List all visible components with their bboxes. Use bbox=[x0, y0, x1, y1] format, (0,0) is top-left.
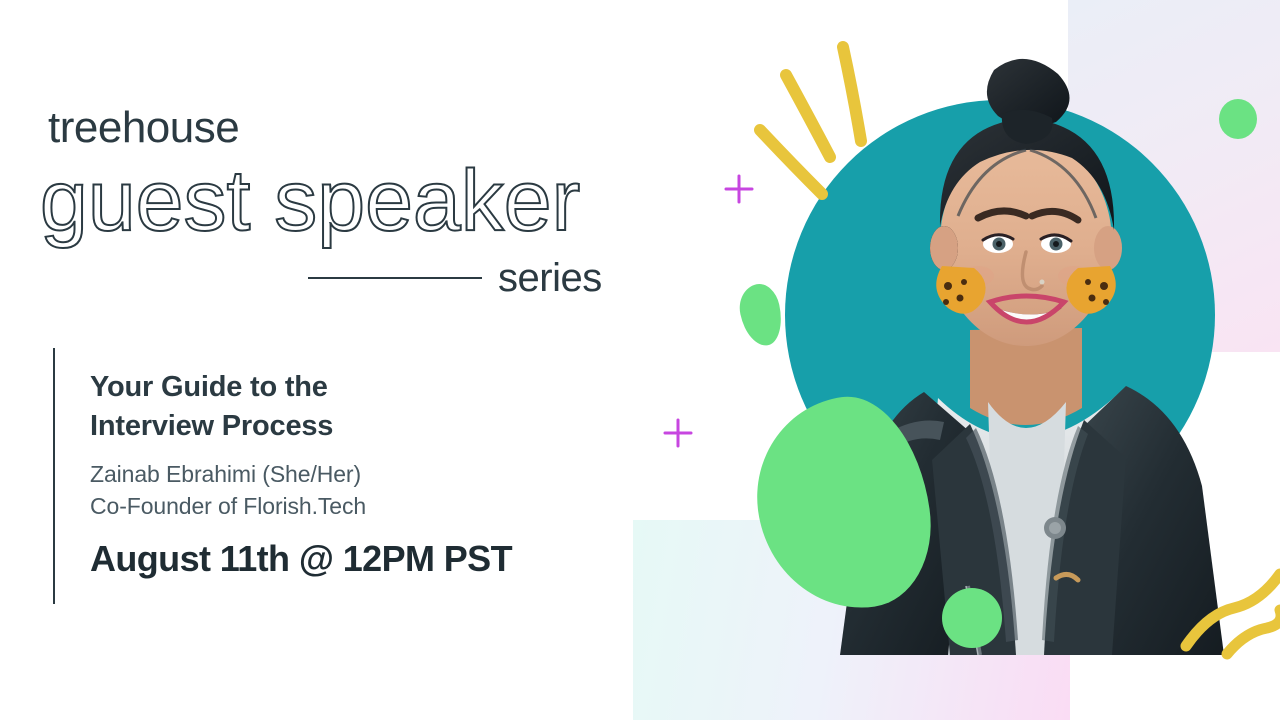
series-row: series bbox=[308, 258, 628, 298]
promo-graphic: treehouse guest speaker series Your Guid… bbox=[0, 0, 1280, 720]
speaker-block: Zainab Ebrahimi (She/Her) Co-Founder of … bbox=[90, 459, 610, 522]
session-date-time: August 11th @ 12PM PST bbox=[90, 539, 610, 579]
session-title-line-2: Interview Process bbox=[90, 407, 610, 446]
series-divider-rule bbox=[308, 277, 482, 279]
magenta-plus-bottom bbox=[665, 420, 691, 446]
magenta-plus-top bbox=[726, 176, 752, 202]
session-details: Your Guide to the Interview Process Zain… bbox=[90, 368, 610, 578]
vertical-accent-rule bbox=[53, 348, 55, 604]
green-dot-bottom bbox=[942, 588, 1002, 648]
headline-outline-text: guest speaker bbox=[40, 158, 580, 244]
text-content: treehouse guest speaker series Your Guid… bbox=[0, 0, 660, 720]
brand-wordmark: treehouse bbox=[48, 106, 239, 150]
speaker-role: Co-Founder of Florish.Tech bbox=[90, 491, 610, 523]
speaker-name: Zainab Ebrahimi (She/Her) bbox=[90, 459, 610, 491]
green-bean-shape bbox=[735, 281, 787, 350]
session-title-line-1: Your Guide to the bbox=[90, 368, 610, 407]
series-label: series bbox=[498, 258, 602, 298]
